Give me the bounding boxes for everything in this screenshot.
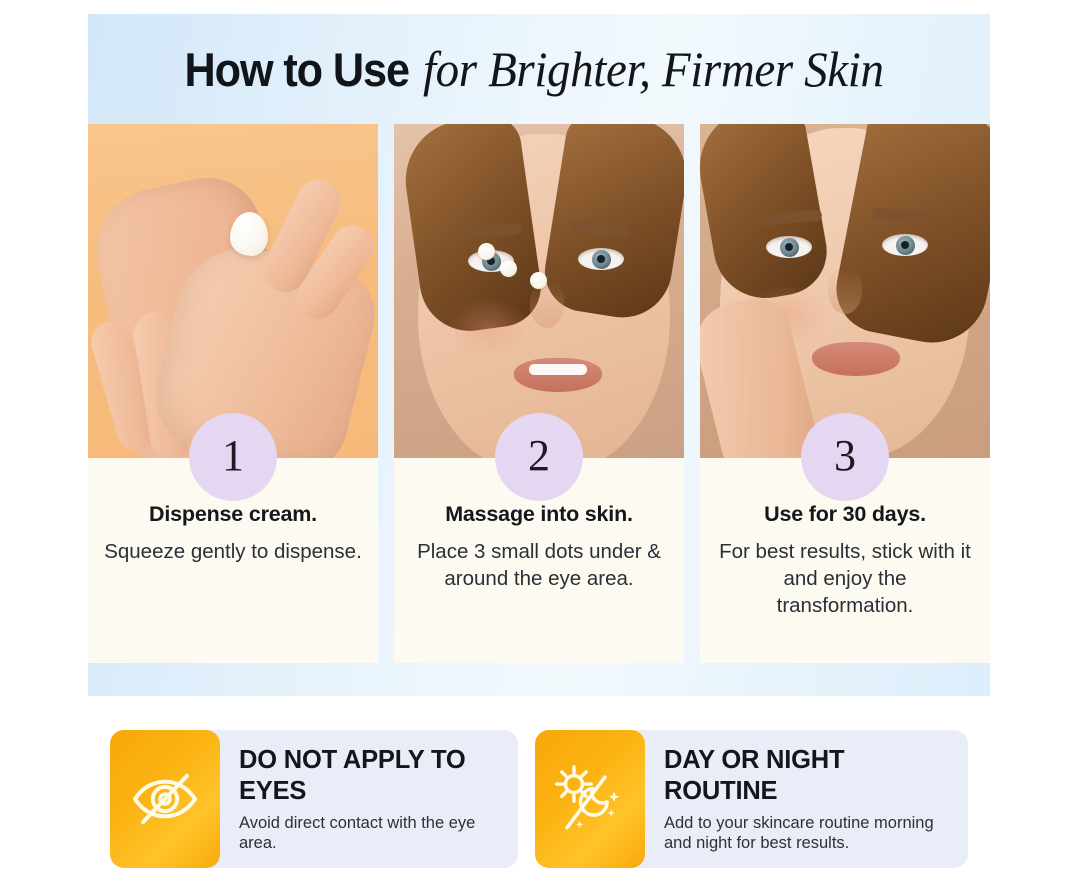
face-illustration (418, 134, 670, 458)
teeth-illustration (529, 364, 587, 375)
eye-slash-icon (128, 762, 202, 836)
iris-illustration (896, 236, 915, 255)
step-number-badge-1: 1 (189, 413, 277, 501)
step-number-badge-3: 3 (801, 413, 889, 501)
step-2-photo (394, 124, 684, 458)
lips-illustration (514, 358, 602, 392)
lips-illustration (812, 342, 900, 376)
step-number-3: 3 (834, 434, 856, 478)
cream-dollop-illustration (230, 212, 268, 256)
badge-text-block: DO NOT APPLY TO EYES Avoid direct contac… (220, 730, 518, 868)
step-1-body: Squeeze gently to dispense. (104, 538, 362, 565)
badge-text-block: DAY OR NIGHT ROUTINE Add to your skincar… (645, 730, 968, 868)
badge-day-or-night-routine: DAY OR NIGHT ROUTINE Add to your skincar… (535, 730, 968, 868)
step-card-1: 1 Dispense cream. Squeeze gently to disp… (88, 124, 378, 663)
badge-2-heading: DAY OR NIGHT ROUTINE (664, 745, 958, 807)
sun-moon-icon (551, 760, 629, 838)
badge-do-not-apply-to-eyes: DO NOT APPLY TO EYES Avoid direct contac… (110, 730, 518, 868)
badge-1-heading: DO NOT APPLY TO EYES (239, 745, 508, 807)
how-to-use-panel: How to Use for Brighter, Firmer Skin (88, 14, 990, 696)
eye-illustration (882, 234, 928, 256)
page-title: How to Use for Brighter, Firmer Skin (88, 14, 990, 124)
step-2-heading: Massage into skin. (410, 502, 668, 527)
step-3-body: For best results, stick with it and enjo… (716, 538, 974, 619)
step-card-3: 3 Use for 30 days. For best results, sti… (700, 124, 990, 663)
title-italic-part: for Brighter, Firmer Skin (423, 40, 884, 98)
cream-dot-2 (500, 260, 517, 277)
cream-dot-3 (530, 272, 547, 289)
iris-illustration (592, 250, 611, 269)
step-3-heading: Use for 30 days. (716, 502, 974, 527)
badge-icon-tile (110, 730, 220, 868)
eye-illustration (766, 236, 812, 258)
step-card-2: 2 Massage into skin. Place 3 small dots … (394, 124, 684, 663)
steps-row: 1 Dispense cream. Squeeze gently to disp… (88, 124, 990, 663)
step-number-badge-2: 2 (495, 413, 583, 501)
step-number-2: 2 (528, 434, 550, 478)
eye-illustration (578, 248, 624, 270)
usage-notes-row: DO NOT APPLY TO EYES Avoid direct contac… (110, 730, 968, 868)
step-number-1: 1 (222, 434, 244, 478)
title-bold-part: How to Use (185, 42, 409, 97)
step-2-body: Place 3 small dots under & around the ey… (410, 538, 668, 592)
iris-illustration (780, 238, 799, 257)
nose-illustration (828, 268, 862, 314)
badge-icon-tile (535, 730, 645, 868)
badge-2-subtext: Add to your skincare routine morning and… (664, 813, 958, 853)
badge-1-subtext: Avoid direct contact with the eye area. (239, 813, 508, 853)
step-1-heading: Dispense cream. (104, 502, 362, 527)
step-1-photo (88, 124, 378, 458)
cream-dot-1 (478, 243, 495, 260)
infographic-root: How to Use for Brighter, Firmer Skin (0, 0, 1080, 895)
cheek-highlight (446, 298, 532, 360)
step-3-photo (700, 124, 990, 458)
nose-illustration (530, 282, 564, 328)
